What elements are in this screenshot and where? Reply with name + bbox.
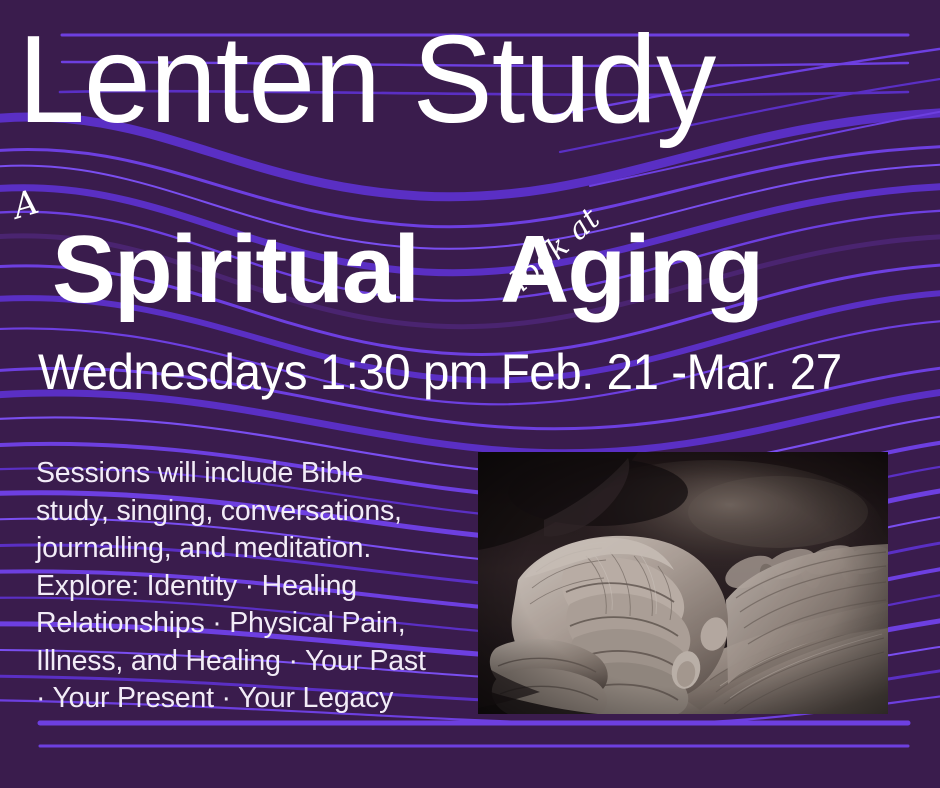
description-line: study, singing, conversations, xyxy=(36,493,476,531)
script-article-a: A xyxy=(8,182,43,227)
description-line: journalling, and meditation. xyxy=(36,530,476,568)
poster-title: Lenten Study xyxy=(18,18,895,142)
description-line: Sessions will include Bible xyxy=(36,455,476,493)
description-text: Sessions will include Bible study, singi… xyxy=(36,455,476,718)
description-line: Explore: Identity · Healing xyxy=(36,568,476,606)
description-line: Illness, and Healing · Your Past xyxy=(36,643,476,681)
schedule-line: Wednesdays 1:30 pm Feb. 21 -Mar. 27 xyxy=(38,347,884,397)
poster-canvas: Lenten Study A SpiritualAging look at We… xyxy=(0,0,940,788)
poster-subtitle: SpiritualAging xyxy=(52,222,932,318)
elderly-hands-photo xyxy=(478,452,888,714)
description-line: · Your Present · Your Legacy xyxy=(36,680,476,718)
description-line: Relationships · Physical Pain, xyxy=(36,605,476,643)
subtitle-word-spiritual: Spiritual xyxy=(52,216,418,323)
